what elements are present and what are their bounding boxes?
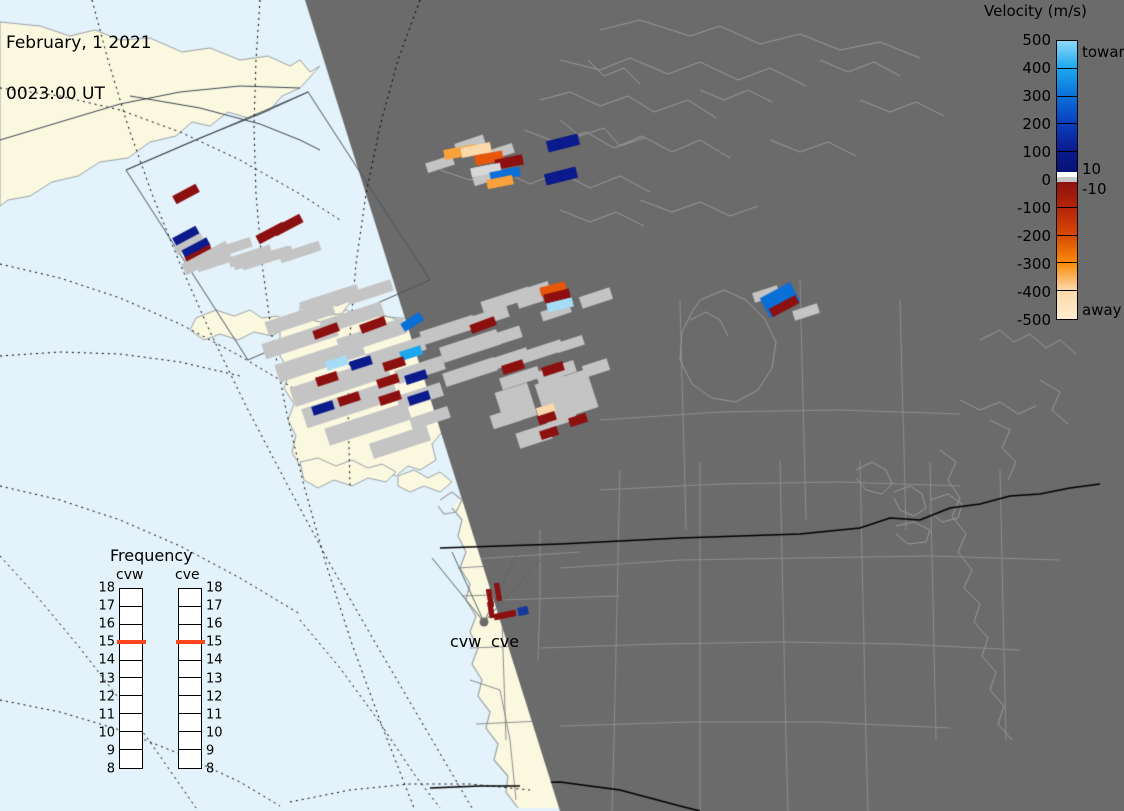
colorbar-tick-500: 500 — [1022, 31, 1051, 49]
frequency-tick-cve-18: 18 — [206, 581, 223, 596]
frequency-legend: Frequency cvw cve 18171615141312111098 1… — [96, 546, 246, 796]
velocity-colorbar: Velocity (m/s) 5004003002001000-100-200-… — [978, 0, 1124, 340]
frequency-tick-cvw-12: 12 — [95, 689, 115, 704]
colorbar-band-5 — [1057, 180, 1077, 208]
colorbar-band-9 — [1057, 291, 1077, 319]
frequency-segment-cvw-6 — [120, 696, 142, 714]
frequency-segment-cve-5 — [179, 678, 201, 696]
colorbar-negative-threshold-label: -10 — [1082, 180, 1107, 198]
frequency-segment-cvw-1 — [120, 607, 142, 625]
colorbar-tick--300: -300 — [1017, 255, 1051, 273]
frequency-tick-cvw-16: 16 — [95, 617, 115, 632]
frequency-tick-cve-13: 13 — [206, 671, 223, 686]
frequency-segment-cvw-8 — [120, 732, 142, 750]
frequency-legend-title: Frequency — [110, 546, 193, 565]
frequency-segment-cve-9 — [179, 750, 201, 768]
colorbar-band-6 — [1057, 208, 1077, 236]
frequency-tick-cvw-11: 11 — [95, 707, 115, 722]
colorbar-band-7 — [1057, 236, 1077, 264]
colorbar-band-0 — [1057, 41, 1077, 69]
frequency-tick-cve-16: 16 — [206, 617, 223, 632]
colorbar-toward-label: toward — [1082, 43, 1124, 61]
colorbar-tick--200: -200 — [1017, 227, 1051, 245]
frequency-segment-cvw-7 — [120, 714, 142, 732]
colorbar-away-label: away — [1082, 301, 1122, 319]
frequency-tick-cve-17: 17 — [206, 599, 223, 614]
frequency-segment-cve-0 — [179, 589, 201, 607]
colorbar-tick-300: 300 — [1022, 87, 1051, 105]
frequency-tick-cvw-17: 17 — [95, 599, 115, 614]
frequency-tick-cvw-18: 18 — [95, 581, 115, 596]
frequency-segment-cve-1 — [179, 607, 201, 625]
colorbar-tick--500: -500 — [1017, 311, 1051, 329]
frequency-tick-cve-11: 11 — [206, 707, 223, 722]
colorbar-tick-0: 0 — [1041, 171, 1051, 189]
frequency-tick-cve-15: 15 — [206, 635, 223, 650]
frequency-segment-cve-8 — [179, 732, 201, 750]
colorbar-tick--400: -400 — [1017, 283, 1051, 301]
frequency-tick-cvw-8: 8 — [95, 762, 115, 777]
colorbar-band-3 — [1057, 124, 1077, 152]
timestamp-title: February, 1 2021 0023:00 UT — [6, 1, 152, 137]
frequency-tick-cvw-9: 9 — [95, 743, 115, 758]
colorbar-positive-threshold-label: 10 — [1082, 160, 1101, 178]
frequency-segment-cve-4 — [179, 661, 201, 679]
colorbar-zero-half-1 — [1057, 177, 1077, 182]
frequency-column-label-cve: cve — [175, 567, 200, 583]
colorbar-band-2 — [1057, 97, 1077, 125]
frequency-bar-cve[interactable] — [178, 588, 202, 769]
frequency-tick-cve-12: 12 — [206, 689, 223, 704]
colorbar-band-8 — [1057, 263, 1077, 291]
colorbar-tick--100: -100 — [1017, 199, 1051, 217]
frequency-marker-cve — [176, 640, 205, 644]
frequency-tick-cvw-15: 15 — [95, 635, 115, 650]
colorbar-tick-100: 100 — [1022, 143, 1051, 161]
colorbar-title: Velocity (m/s) — [984, 2, 1087, 20]
frequency-segment-cvw-4 — [120, 661, 142, 679]
colorbar-tick-400: 400 — [1022, 59, 1051, 77]
site-label-cve: cve — [491, 632, 519, 651]
frequency-column-label-cvw: cvw — [116, 567, 143, 583]
colorbar-zero-band — [1056, 172, 1078, 182]
radar-velocity-map-page: February, 1 2021 0023:00 UT Velocity (m/… — [0, 0, 1124, 811]
colorbar-tick-200: 200 — [1022, 115, 1051, 133]
frequency-segment-cve-6 — [179, 696, 201, 714]
frequency-segment-cve-3 — [179, 643, 201, 661]
site-label-cvw: cvw — [450, 632, 481, 651]
frequency-segment-cvw-9 — [120, 750, 142, 768]
frequency-segment-cvw-0 — [120, 589, 142, 607]
frequency-tick-cve-10: 10 — [206, 725, 223, 740]
frequency-tick-cve-8: 8 — [206, 762, 214, 777]
frequency-marker-cvw — [117, 640, 146, 644]
title-time: 0023:00 UT — [6, 86, 152, 103]
colorbar-band-1 — [1057, 69, 1077, 97]
frequency-segment-cvw-5 — [120, 678, 142, 696]
frequency-segment-cve-7 — [179, 714, 201, 732]
title-date: February, 1 2021 — [6, 35, 152, 52]
frequency-tick-cve-14: 14 — [206, 653, 223, 668]
frequency-tick-cvw-13: 13 — [95, 671, 115, 686]
frequency-tick-cvw-10: 10 — [95, 725, 115, 740]
frequency-tick-cve-9: 9 — [206, 743, 214, 758]
frequency-segment-cvw-3 — [120, 643, 142, 661]
frequency-tick-cvw-14: 14 — [95, 653, 115, 668]
frequency-bar-cvw[interactable] — [119, 588, 143, 769]
